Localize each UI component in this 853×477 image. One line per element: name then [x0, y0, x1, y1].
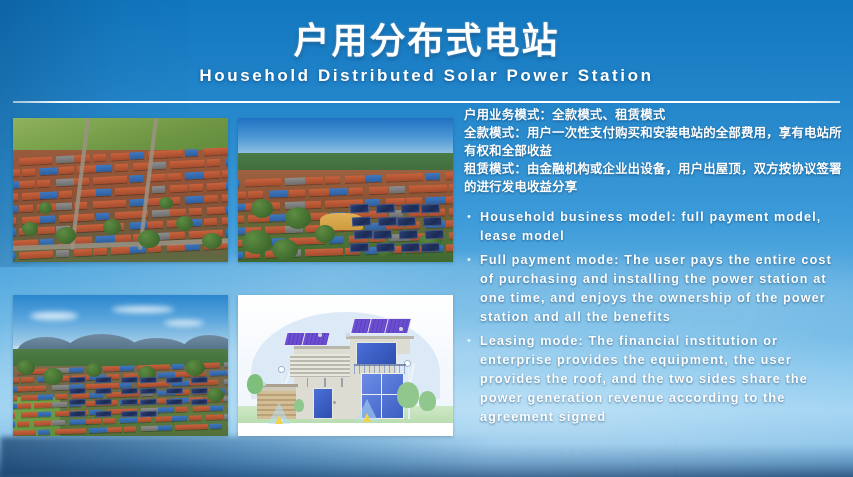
chinese-line-3: 租赁模式：由金融机构或企业出设备，用户出屋顶，双方按协议签署的进行发电收益分享: [464, 160, 842, 196]
solar-panel-icon-2: [301, 332, 330, 346]
solar-panel-overlay: [238, 118, 453, 262]
photo-aerial-village-rooftop-solar: [238, 118, 453, 262]
solar-panel-icon-5: [384, 318, 412, 334]
bullet-text-1: Household business model: full payment m…: [480, 208, 842, 246]
photo-aerial-village-red-roofs: [13, 118, 228, 262]
list-item: • Leasing mode: The financial institutio…: [464, 332, 842, 427]
chinese-line-2: 全款模式：用户一次性支付购买和安装电站的全部费用，享有电站所有权和全部收益: [464, 124, 842, 160]
bullet-marker-icon: •: [464, 332, 480, 351]
bullet-marker-icon: •: [464, 208, 480, 227]
background-bottom-band: [0, 437, 853, 477]
english-bullet-list: • Household business model: full payment…: [464, 208, 842, 427]
bullet-text-2: Full payment mode: The user pays the ent…: [480, 251, 842, 327]
header-divider: [13, 101, 840, 103]
list-item: • Full payment mode: The user pays the e…: [464, 251, 842, 327]
content-text-column: 户用业务模式：全款模式、租赁模式 全款模式：用户一次性支付购买和安装电站的全部费…: [464, 106, 842, 432]
solar-panel-overlay: [13, 295, 228, 436]
chinese-line-1: 户用业务模式：全款模式、租赁模式: [464, 106, 842, 124]
page-title-chinese: 户用分布式电站: [0, 22, 853, 60]
slide-header: 户用分布式电站 Household Distributed Solar Powe…: [0, 0, 853, 103]
image-gallery: [13, 118, 453, 436]
page-title-english: Household Distributed Solar Power Statio…: [0, 66, 853, 86]
chinese-paragraph-block: 户用业务模式：全款模式、租赁模式 全款模式：用户一次性支付购买和安装电站的全部费…: [464, 106, 842, 197]
photo-aerial-village-mountains-solar: [13, 295, 228, 436]
photo-illustration-solar-house: [238, 295, 453, 436]
bullet-text-3: Leasing mode: The financial institution …: [480, 332, 842, 427]
list-item: • Household business model: full payment…: [464, 208, 842, 246]
slide-canvas: 户用分布式电站 Household Distributed Solar Powe…: [0, 0, 853, 477]
bullet-marker-icon: •: [464, 251, 480, 270]
